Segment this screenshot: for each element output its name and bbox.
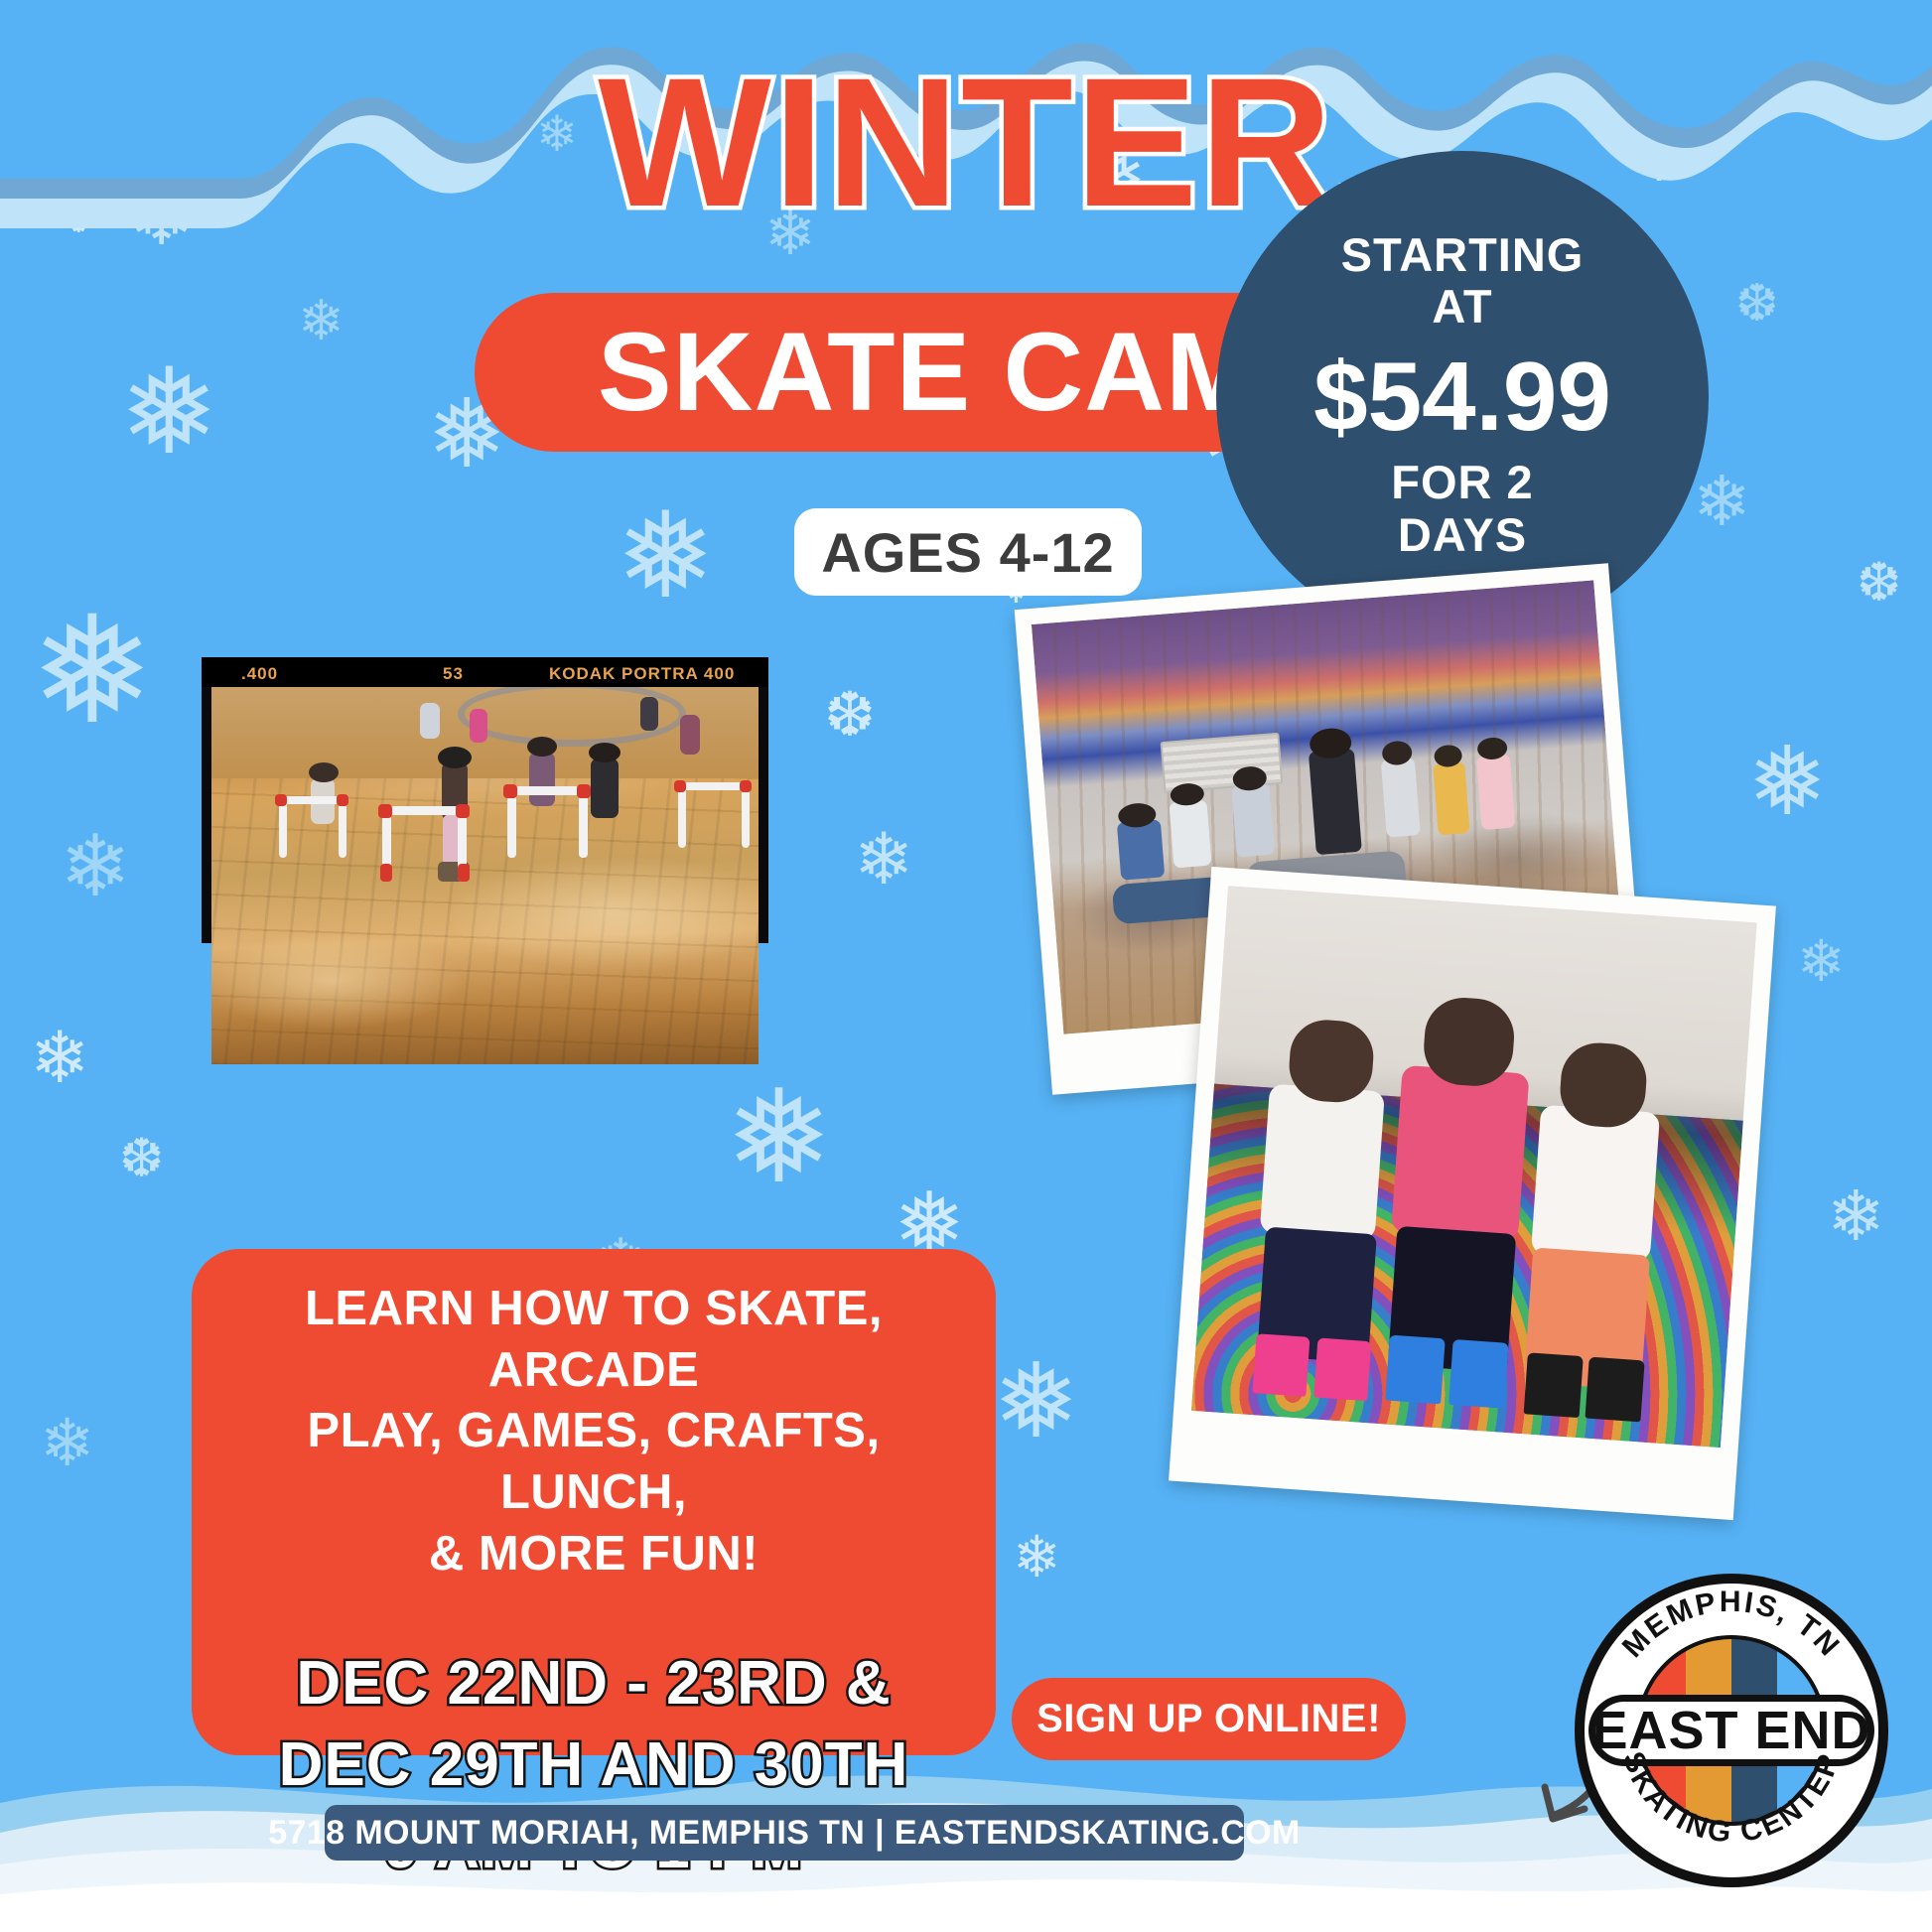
snowflake-icon: ❅ (30, 596, 155, 745)
details-panel: LEARN HOW TO SKATE, ARCADE PLAY, GAMES, … (192, 1249, 996, 1755)
photo-rink-image (211, 687, 759, 1064)
price-line-for: FOR 2 (1391, 457, 1533, 509)
features-line-3: & MORE FUN! (217, 1524, 970, 1586)
snowflake-icon: ❄ (40, 1410, 94, 1475)
logo-center-text: EAST END (1591, 1701, 1870, 1760)
price-line-starting: STARTING (1341, 229, 1585, 282)
dates-line-1: DEC 22ND - 23RD & (217, 1643, 970, 1725)
ages-badge-label: AGES 4-12 (821, 520, 1114, 585)
snowflake-icon: ❄ (1827, 1181, 1885, 1251)
snowflake-icon: ❄ (1797, 933, 1846, 991)
film-strip-header: .400 53 KODAK PORTRA 400 (202, 657, 768, 687)
snowflake-icon: ❆ (1735, 278, 1779, 330)
film-code: .400 (241, 664, 278, 684)
price-amount: $54.99 (1313, 347, 1611, 445)
dates-line-2: DEC 29TH AND 30TH (217, 1725, 970, 1806)
film-frame-number: 53 (443, 664, 464, 684)
snowflake-icon: ❅ (725, 1072, 833, 1201)
snowflake-icon: ❅ (119, 352, 219, 472)
snowflake-icon: ❆ (1857, 556, 1901, 610)
snowflake-icon: ❅ (616, 496, 716, 616)
page-title: WINTER (0, 52, 1932, 235)
snowflake-icon: ❆ (824, 685, 876, 747)
address-text: 5718 MOUNT MORIAH, MEMPHIS TN | EASTENDS… (268, 1814, 1301, 1853)
snowflake-icon: ❄ (1693, 467, 1751, 536)
east-end-skating-center-logo: EAST END MEMPHIS, TN SKATING CENTER (1569, 1568, 1894, 1893)
features-line-2: PLAY, GAMES, CRAFTS, LUNCH, (217, 1401, 970, 1523)
snowflake-icon: ❄ (854, 824, 913, 896)
snowflake-icon: ❄ (60, 824, 131, 909)
price-line-days: DAYS (1398, 509, 1527, 562)
address-bar: 5718 MOUNT MORIAH, MEMPHIS TN | EASTENDS… (325, 1805, 1244, 1861)
ages-badge: AGES 4-12 (794, 508, 1142, 596)
snowflake-icon: ❆ (119, 1132, 164, 1185)
sign-up-button[interactable]: SIGN UP ONLINE! (1012, 1678, 1406, 1760)
photo-three-girls (1169, 867, 1776, 1520)
sign-up-button-label: SIGN UP ONLINE! (1036, 1697, 1381, 1741)
snowflake-icon: ❄ (298, 293, 345, 348)
price-badge: STARTING AT $54.99 FOR 2 DAYS (1216, 151, 1709, 643)
snowflake-icon: ❅ (1747, 735, 1827, 830)
film-stock-name: KODAK PORTRA 400 (549, 664, 735, 684)
photo-rink-skaters: .400 53 KODAK PORTRA 400 (202, 657, 768, 943)
photo-three-girls-image (1191, 886, 1757, 1448)
snowflake-icon: ❄ (30, 1023, 89, 1094)
winter-skate-camp-flyer: ❄ ❄ ❅ ❆ ❅ ❄ ❅ ❄ ❄ ❅ ❆ ❄ ❅ ❄ ❄ ❅ ❄ ❅ ❄ ❆ … (0, 0, 1932, 1932)
features-line-1: LEARN HOW TO SKATE, ARCADE (217, 1279, 970, 1401)
price-line-at: AT (1432, 281, 1492, 334)
snowflake-icon: ❅ (993, 1350, 1079, 1453)
